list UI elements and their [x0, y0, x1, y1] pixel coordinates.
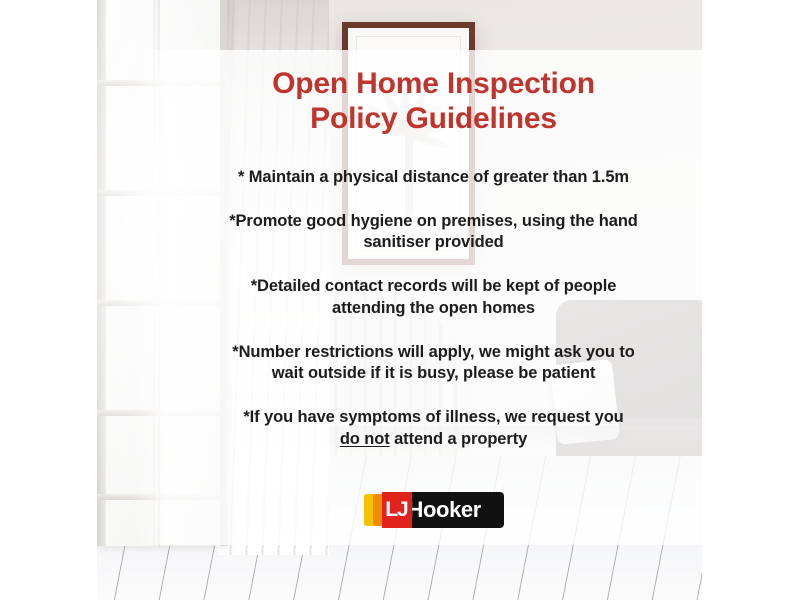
logo-monogram: LJ [382, 492, 412, 528]
guideline-text-head: *If you have symptoms of illness, we req… [243, 408, 623, 426]
guideline-item: *Detailed contact records will be kept o… [177, 276, 690, 320]
guideline-item-emphasis: *If you have symptoms of illness, we req… [177, 407, 690, 451]
poster: Open Home Inspection Policy Guidelines *… [0, 0, 800, 600]
logo-wordmark: Hooker [398, 492, 504, 528]
guideline-item: *Promote good hygiene on premises, using… [177, 211, 690, 255]
guideline-list: * Maintain a physical distance of greate… [165, 167, 702, 451]
guideline-text-tail: attend a property [390, 430, 528, 448]
guideline-item: *Number restrictions will apply, we migh… [177, 342, 690, 386]
title-line-2: Policy Guidelines [165, 101, 702, 136]
guideline-item: * Maintain a physical distance of greate… [177, 167, 690, 189]
text-overlay-panel: Open Home Inspection Policy Guidelines *… [165, 50, 702, 545]
lj-hooker-logo: LJ Hooker [364, 492, 504, 528]
page-title: Open Home Inspection Policy Guidelines [165, 66, 702, 137]
logo-colour-bars: LJ [364, 492, 398, 528]
guideline-underlined-text: do not [340, 430, 390, 448]
room-photo: Open Home Inspection Policy Guidelines *… [97, 0, 702, 600]
title-line-1: Open Home Inspection [165, 66, 702, 101]
